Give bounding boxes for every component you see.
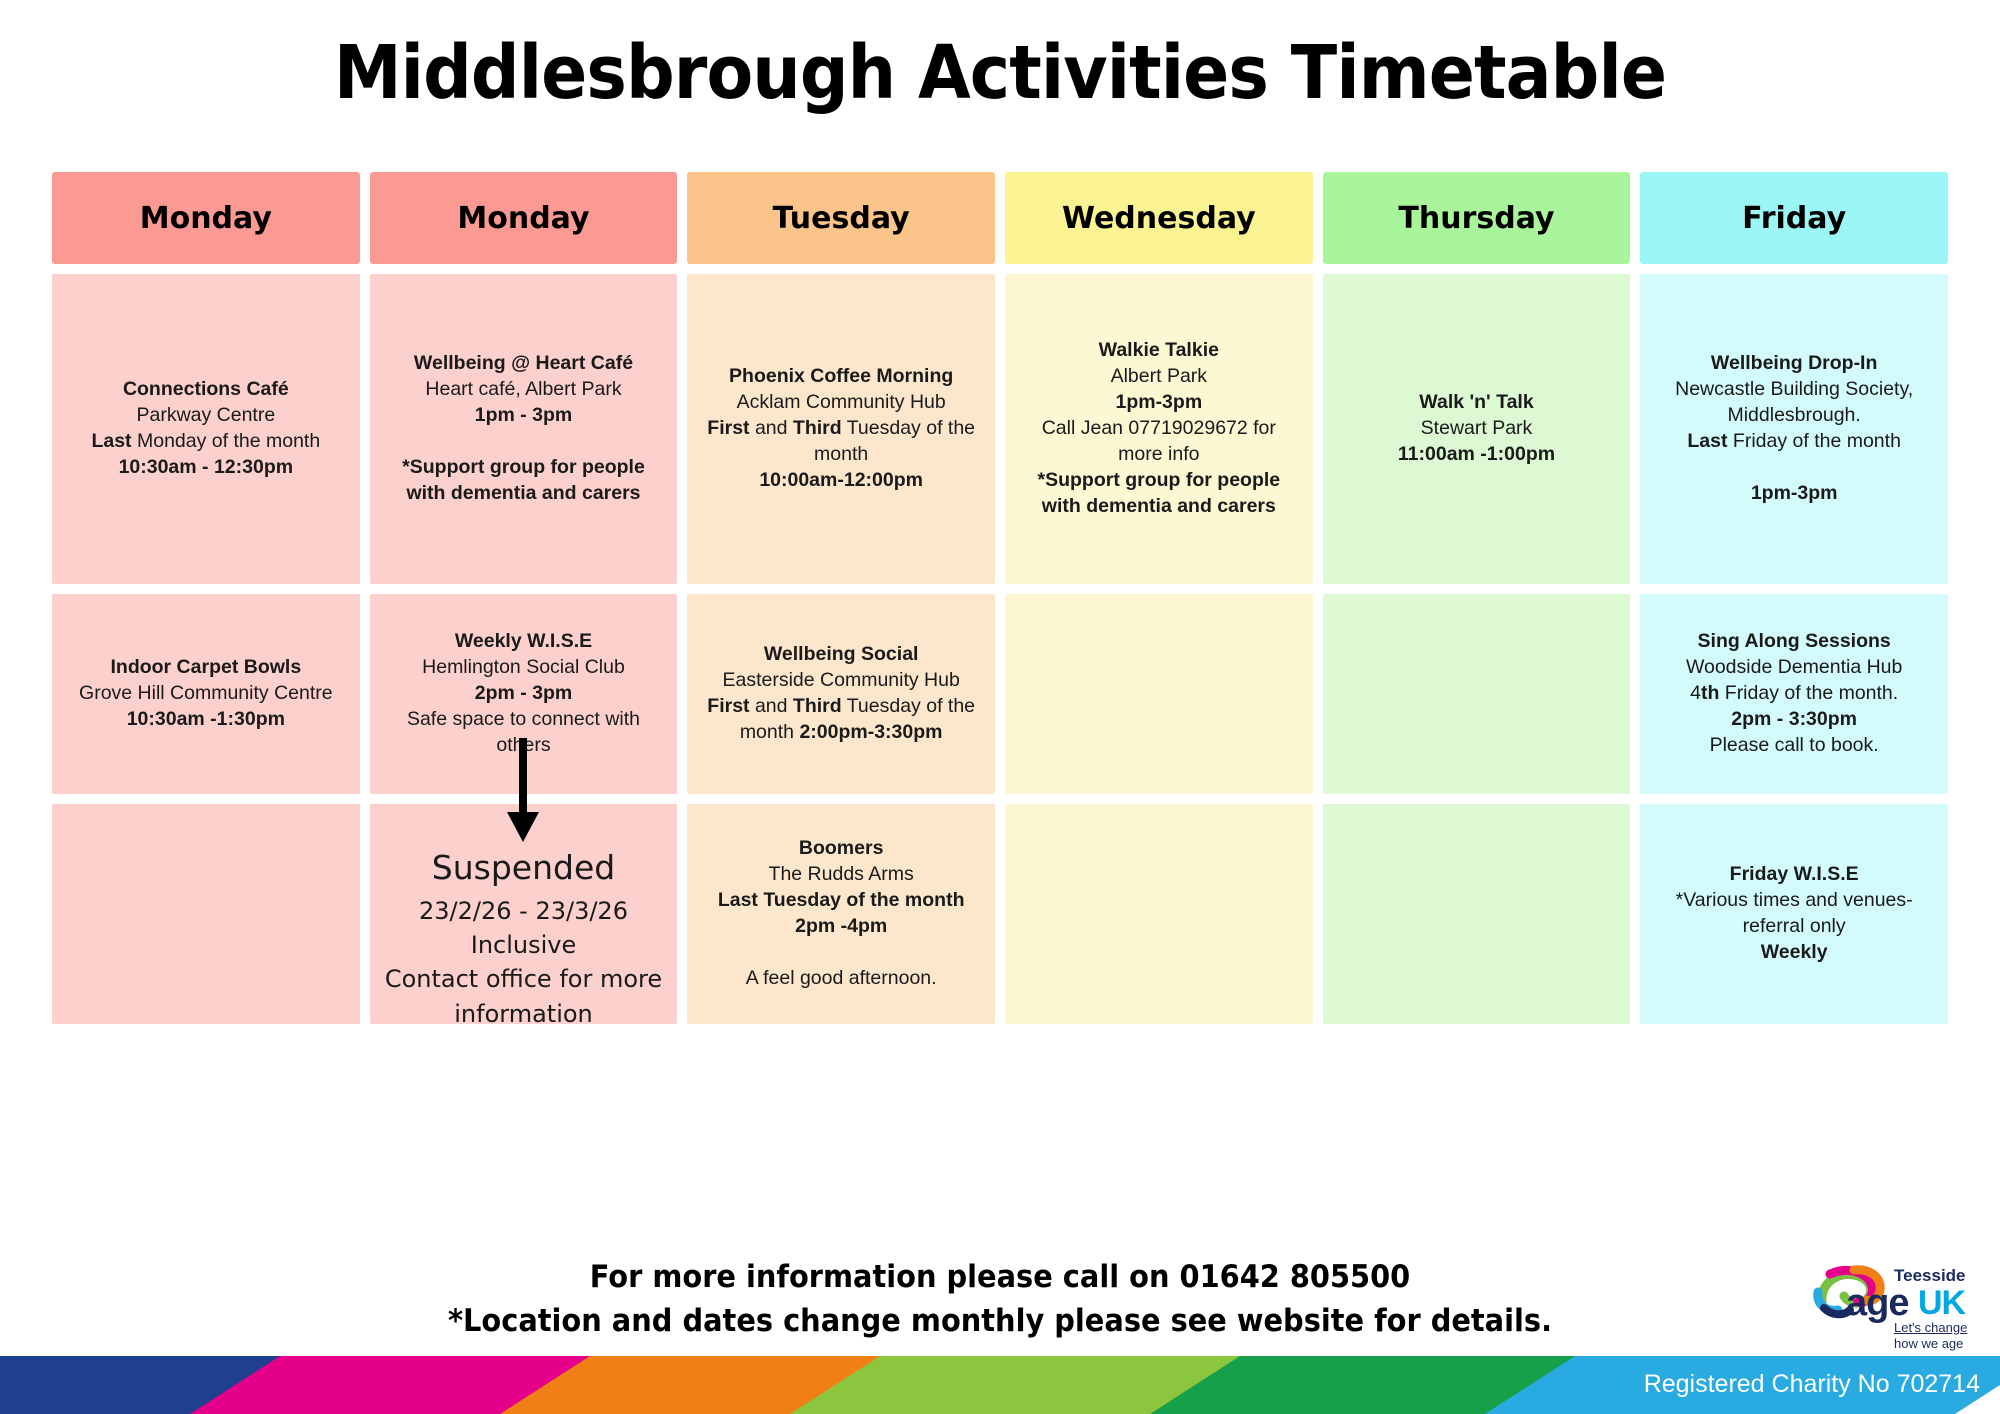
activity-cell-wednesday-row1: Walkie TalkieAlbert Park1pm-3pmCall Jean… bbox=[1005, 274, 1313, 584]
timetable-grid: MondayMondayTuesdayWednesdayThursdayFrid… bbox=[52, 172, 1948, 1024]
activity-cell-tuesday-row1: Phoenix Coffee MorningAcklam Community H… bbox=[687, 274, 995, 584]
activity-cell-friday-row1: Wellbeing Drop-InNewcastle Building Soci… bbox=[1640, 274, 1948, 584]
day-header-label: Thursday bbox=[1398, 201, 1554, 236]
day-header-label: Friday bbox=[1742, 201, 1846, 236]
activity-line: Connections Café bbox=[64, 377, 348, 403]
activity-line: Acklam Community Hub bbox=[699, 390, 983, 416]
activity-line: Wellbeing @ Heart Café bbox=[382, 351, 666, 377]
activity-line: A feel good afternoon. bbox=[699, 966, 983, 992]
activity-line: Wellbeing Social bbox=[699, 642, 983, 668]
activity-line: *Support group for people with dementia … bbox=[1017, 468, 1301, 520]
activity-line: Easterside Community Hub bbox=[699, 668, 983, 694]
logo-tagline-line-2: how we age bbox=[1894, 1336, 1963, 1351]
bottom-color-bar: February 2026 Registered Charity No 7027… bbox=[0, 1356, 2000, 1414]
activity-line: Last Friday of the month bbox=[1652, 429, 1936, 455]
activity-line: Last Monday of the month bbox=[64, 429, 348, 455]
activity-cell-thursday-row3 bbox=[1323, 804, 1631, 1024]
activity-line: 2pm - 3pm bbox=[382, 681, 666, 707]
activity-line: Weekly bbox=[1652, 940, 1936, 966]
activity-cell-tuesday-row3: BoomersThe Rudds ArmsLast Tuesday of the… bbox=[687, 804, 995, 1024]
day-header-friday: Friday bbox=[1640, 172, 1948, 264]
activity-line: 23/2/26 - 23/3/26 bbox=[382, 894, 666, 928]
activity-line: *Support group for people with dementia … bbox=[382, 455, 666, 507]
activity-line: 2pm - 3:30pm bbox=[1652, 707, 1936, 733]
logo-tagline-line-1: Let's change bbox=[1894, 1320, 1967, 1335]
day-header-label: Tuesday bbox=[773, 201, 910, 236]
activity-line: 4th Friday of the month. bbox=[1652, 681, 1936, 707]
activity-line: Please call to book. bbox=[1652, 733, 1936, 759]
activity-cell-thursday-row1: Walk 'n' TalkStewart Park11:00am -1:00pm bbox=[1323, 274, 1631, 584]
day-header-tuesday: Tuesday bbox=[687, 172, 995, 264]
activity-cell-monday-row2: Indoor Carpet BowlsGrove Hill Community … bbox=[52, 594, 360, 794]
page-title: Middlesbrough Activities Timetable bbox=[80, 0, 1920, 116]
activity-line: Parkway Centre bbox=[64, 403, 348, 429]
spacer-line bbox=[382, 429, 666, 455]
activity-line: 1pm - 3pm bbox=[382, 403, 666, 429]
spacer-line bbox=[1652, 455, 1936, 481]
activity-line: Call Jean 07719029672 for more info bbox=[1017, 416, 1301, 468]
activity-line: Albert Park bbox=[1017, 364, 1301, 390]
activity-cell-monday-2-row3: Suspended23/2/26 - 23/3/26InclusiveConta… bbox=[370, 804, 678, 1024]
activity-cell-friday-row2: Sing Along SessionsWoodside Dementia Hub… bbox=[1640, 594, 1948, 794]
spacer-line bbox=[699, 940, 983, 966]
activity-cell-friday-row3: Friday W.I.S.E*Various times and venues-… bbox=[1640, 804, 1948, 1024]
day-header-monday: Monday bbox=[52, 172, 360, 264]
day-header-wednesday: Wednesday bbox=[1005, 172, 1313, 264]
activity-line: Last Tuesday of the month 2pm -4pm bbox=[699, 888, 983, 940]
activity-line: Phoenix Coffee Morning bbox=[699, 364, 983, 390]
activity-cell-tuesday-row2: Wellbeing SocialEasterside Community Hub… bbox=[687, 594, 995, 794]
activity-cell-monday-2-row2: Weekly W.I.S.EHemlington Social Club2pm … bbox=[370, 594, 678, 794]
activity-line: Inclusive bbox=[382, 928, 666, 962]
activity-line: Walkie Talkie bbox=[1017, 338, 1301, 364]
activity-line: 11:00am -1:00pm bbox=[1335, 442, 1619, 468]
activity-cell-thursday-row2 bbox=[1323, 594, 1631, 794]
activity-line: 10:30am - 12:30pm bbox=[64, 455, 348, 481]
activity-line: 10:30am -1:30pm bbox=[64, 707, 348, 733]
logo-tagline: Let's change how we age bbox=[1894, 1320, 1967, 1353]
footer-contact-text: For more information please call on 0164… bbox=[70, 1255, 1930, 1343]
logo-uk-text: UK bbox=[1918, 1284, 1965, 1323]
activity-cell-monday-row3 bbox=[52, 804, 360, 1024]
activity-line: Sing Along Sessions bbox=[1652, 629, 1936, 655]
activity-cell-wednesday-row3 bbox=[1005, 804, 1313, 1024]
footer-line-1: For more information please call on 0164… bbox=[70, 1255, 1930, 1299]
activity-line: *Various times and venues-referral only bbox=[1652, 888, 1936, 940]
activity-line: Friday W.I.S.E bbox=[1652, 862, 1936, 888]
activity-line: Weekly W.I.S.E bbox=[382, 629, 666, 655]
activity-cell-wednesday-row2 bbox=[1005, 594, 1313, 794]
activity-line: The Rudds Arms bbox=[699, 862, 983, 888]
activity-line: Heart café, Albert Park bbox=[382, 377, 666, 403]
activity-line: Stewart Park bbox=[1335, 416, 1619, 442]
day-header-monday-2: Monday bbox=[370, 172, 678, 264]
activity-line: Safe space to connect with others bbox=[382, 707, 666, 759]
activity-line: Hemlington Social Club bbox=[382, 655, 666, 681]
timetable-page: Middlesbrough Activities Timetable Monda… bbox=[0, 0, 2000, 1414]
logo-tagline-underline: Let's change bbox=[1894, 1320, 1967, 1335]
activity-line: First and Third Tuesday of the month 2:0… bbox=[699, 694, 983, 746]
activity-line: Suspended bbox=[382, 845, 666, 894]
activity-line: Grove Hill Community Centre bbox=[64, 681, 348, 707]
activity-line: Contact office for more information bbox=[382, 962, 666, 1030]
activity-line: Woodside Dementia Hub bbox=[1652, 655, 1936, 681]
bottom-bar-charity-number: Registered Charity No 702714 bbox=[1644, 1370, 1980, 1399]
day-header-thursday: Thursday bbox=[1323, 172, 1631, 264]
activity-line: 1pm-3pm bbox=[1017, 390, 1301, 416]
day-header-label: Monday bbox=[140, 201, 272, 236]
day-header-label: Monday bbox=[457, 201, 589, 236]
activity-line: Walk 'n' Talk bbox=[1335, 390, 1619, 416]
activity-line: Boomers bbox=[699, 836, 983, 862]
activity-line: Newcastle Building Society, Middlesbroug… bbox=[1652, 377, 1936, 429]
activity-cell-monday-2-row1: Wellbeing @ Heart CaféHeart café, Albert… bbox=[370, 274, 678, 584]
age-uk-teesside-logo: Teesside age UK Let's change how we age bbox=[1810, 1262, 1978, 1348]
footer-line-2: *Location and dates change monthly pleas… bbox=[70, 1299, 1930, 1343]
activity-line: First and Third Tuesday of the month bbox=[699, 416, 983, 468]
activity-line: 1pm-3pm bbox=[1652, 481, 1936, 507]
activity-line: Indoor Carpet Bowls bbox=[64, 655, 348, 681]
activity-cell-monday-row1: Connections CaféParkway CentreLast Monda… bbox=[52, 274, 360, 584]
logo-age-text: age bbox=[1846, 1282, 1908, 1325]
day-header-label: Wednesday bbox=[1062, 201, 1256, 236]
activity-line: Wellbeing Drop-In bbox=[1652, 351, 1936, 377]
activity-line: 10:00am-12:00pm bbox=[699, 468, 983, 494]
